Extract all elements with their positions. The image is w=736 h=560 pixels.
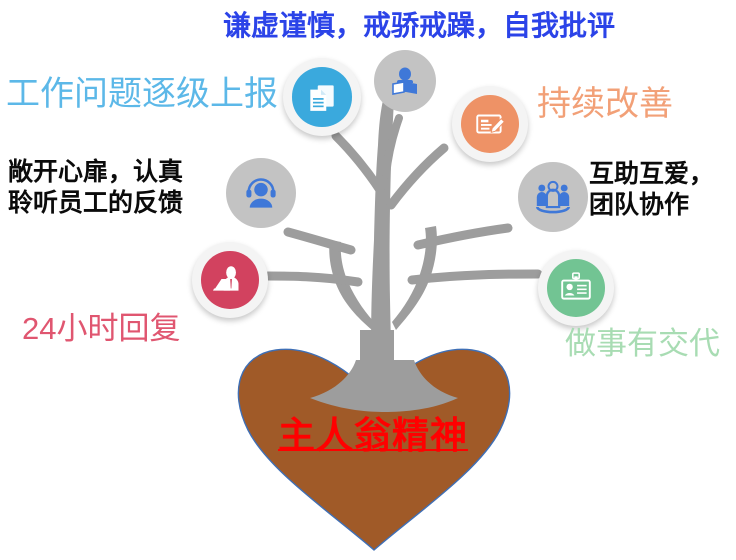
team-group-icon (534, 178, 572, 216)
label-left-black: 敞开心扉，认真 聆听员工的反馈 (8, 158, 183, 219)
edit-form-icon (473, 107, 507, 141)
node-team[interactable] (518, 162, 588, 232)
label-left-red: 24小时回复 (22, 310, 180, 348)
concept-tree-diagram: 谦虚谨慎，戒骄戒躁，自我批评 工作问题逐级上报 持续改善 敞开心扉，认真 聆听员… (0, 0, 736, 560)
label-right-black: 互助互爱， 团队协作 (589, 160, 714, 221)
node-businessman[interactable] (192, 242, 268, 318)
node-headset[interactable] (226, 158, 296, 228)
businessman-laptop-icon (213, 263, 247, 297)
node-reader[interactable] (374, 50, 436, 112)
node-documents[interactable] (283, 58, 361, 136)
label-right-green: 做事有交代 (565, 325, 720, 363)
documents-icon (305, 80, 339, 114)
label-left-blue: 工作问题逐级上报 (6, 74, 278, 115)
label-right-orange: 持续改善 (537, 84, 673, 125)
headset-agent-icon (243, 175, 279, 211)
id-badge-icon (559, 271, 593, 305)
node-id-badge[interactable] (538, 250, 614, 326)
person-reading-icon (389, 65, 421, 97)
label-top-blue: 谦虚谨慎，戒骄戒躁，自我批评 (223, 10, 615, 44)
label-heart-root: 主人翁精神 (278, 414, 468, 459)
node-edit-form[interactable] (452, 86, 528, 162)
